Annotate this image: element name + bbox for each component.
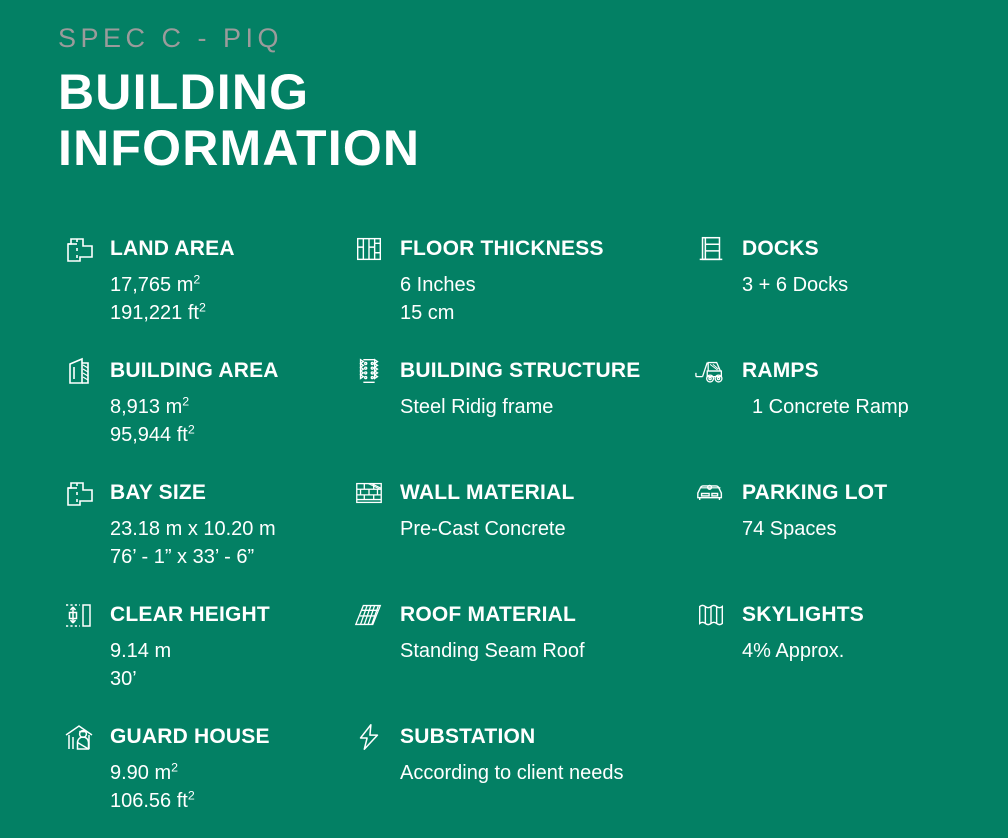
spec-value-metric: 8,913 m2 [110,393,330,421]
spec-item-header: PARKING LOT [690,472,1008,514]
page-title: BUILDING INFORMATION [58,64,1008,176]
spec-item-header: BUILDING STRUCTURE [348,350,680,392]
spec-item-header: BUILDING AREA [58,350,330,392]
spec-item-docks: DOCKS 3 + 6 Docks [690,228,1008,350]
spec-item-label: PARKING LOT [742,481,887,505]
brick-wall-icon [348,472,390,514]
spec-item-label: SKYLIGHTS [742,603,864,627]
spec-item-ramps: RAMPS 1 Concrete Ramp [690,350,1008,472]
spec-value: 1 Concrete Ramp [752,393,1008,421]
spec-value-metric: 9.14 m [110,637,330,665]
spec-item-values: Standing Seam Roof [348,637,680,665]
spec-item-header: DOCKS [690,228,1008,270]
spec-item-label: BUILDING STRUCTURE [400,359,640,383]
spec-item-land-area: LAND AREA 17,765 m2 191,221 ft2 [58,228,330,350]
page-title-line-2: INFORMATION [58,120,1008,176]
spec-item-label: WALL MATERIAL [400,481,574,505]
spec-item-header: SKYLIGHTS [690,594,1008,636]
floor-slab-icon [348,228,390,270]
spec-item-building-structure: BUILDING STRUCTURE Steel Ridig frame [348,350,680,472]
spec-item-values: 8,913 m2 95,944 ft2 [58,393,330,450]
spec-item-values: 6 Inches 15 cm [348,271,680,328]
spec-item-label: CLEAR HEIGHT [110,603,270,627]
spec-item-values: 4% Approx. [690,637,1008,665]
site-plan-icon [58,472,100,514]
spec-item-values: 3 + 6 Docks [690,271,1008,299]
column-middle: FLOOR THICKNESS 6 Inches 15 cm [330,228,680,838]
spec-item-values: 9.90 m2 106.56 ft2 [58,759,330,816]
spec-item-label: FLOOR THICKNESS [400,237,604,261]
spec-value: According to client needs [400,759,680,787]
spec-value: Pre-Cast Concrete [400,515,680,543]
site-plan-icon [58,228,100,270]
spec-item-clear-height: CLEAR HEIGHT 9.14 m 30’ [58,594,330,716]
spec-item-header: WALL MATERIAL [348,472,680,514]
spec-item-values: 1 Concrete Ramp [690,393,1008,421]
spec-value: 4% Approx. [742,637,1008,665]
spec-value-metric: 23.18 m x 10.20 m [110,515,330,543]
spec-item-label: GUARD HOUSE [110,725,270,749]
spec-item-label: SUBSTATION [400,725,535,749]
building-tower-icon [58,350,100,392]
spec-item-header: FLOOR THICKNESS [348,228,680,270]
spec-item-label: BUILDING AREA [110,359,279,383]
spec-item-values: 74 Spaces [690,515,1008,543]
spec-item-wall-material: WALL MATERIAL Pre-Cast Concrete [348,472,680,594]
lightning-bolt-icon [348,716,390,758]
spec-item-label: BAY SIZE [110,481,206,505]
spec-item-label: LAND AREA [110,237,235,261]
spec-item-header: SUBSTATION [348,716,680,758]
spec-value-imperial: 191,221 ft2 [110,299,330,327]
spec-value-imperial: 30’ [110,665,330,693]
spec-item-label: ROOF MATERIAL [400,603,576,627]
spec-value-imperial: 106.56 ft2 [110,787,330,815]
spec-item-label: DOCKS [742,237,819,261]
clear-height-icon [58,594,100,636]
guard-house-icon [58,716,100,758]
spec-value: 74 Spaces [742,515,1008,543]
spec-item-guard-house: GUARD HOUSE 9.90 m2 106.56 ft2 [58,716,330,838]
car-icon [690,472,732,514]
spec-item-values: 17,765 m2 191,221 ft2 [58,271,330,328]
spec-value-metric: 9.90 m2 [110,759,330,787]
spec-grid: LAND AREA 17,765 m2 191,221 ft2 BUILDING… [0,228,1008,838]
spec-item-parking-lot: PARKING LOT 74 Spaces [690,472,1008,594]
spec-item-values: Pre-Cast Concrete [348,515,680,543]
spec-eyebrow: SPEC C - PIQ [58,22,1008,54]
spec-item-bay-size: BAY SIZE 23.18 m x 10.20 m 76’ - 1” x 33… [58,472,330,594]
spec-value-metric: 15 cm [400,299,680,327]
column-right: DOCKS 3 + 6 Docks [680,228,1008,838]
steel-structure-icon [348,350,390,392]
spec-item-building-area: BUILDING AREA 8,913 m2 95,944 ft2 [58,350,330,472]
spec-item-values: Steel Ridig frame [348,393,680,421]
spec-item-roof-material: ROOF MATERIAL Standing Seam Roof [348,594,680,716]
spec-item-header: LAND AREA [58,228,330,270]
spec-value-imperial: 76’ - 1” x 33’ - 6” [110,543,330,571]
page-header: SPEC C - PIQ BUILDING INFORMATION [0,0,1008,176]
spec-value: 3 + 6 Docks [742,271,1008,299]
spec-item-values: 23.18 m x 10.20 m 76’ - 1” x 33’ - 6” [58,515,330,572]
spec-item-substation: SUBSTATION According to client needs [348,716,680,838]
spec-item-values: According to client needs [348,759,680,787]
spec-item-header: CLEAR HEIGHT [58,594,330,636]
spec-value: Steel Ridig frame [400,393,680,421]
spec-item-floor-thickness: FLOOR THICKNESS 6 Inches 15 cm [348,228,680,350]
spec-item-header: ROOF MATERIAL [348,594,680,636]
page-title-line-1: BUILDING [58,64,1008,120]
spec-item-label: RAMPS [742,359,819,383]
roof-shingle-icon [348,594,390,636]
spec-value: Standing Seam Roof [400,637,680,665]
spec-value-imperial: 6 Inches [400,271,680,299]
column-left: LAND AREA 17,765 m2 191,221 ft2 BUILDING… [0,228,330,838]
spec-item-skylights: SKYLIGHTS 4% Approx. [690,594,1008,716]
spec-item-values: 9.14 m 30’ [58,637,330,694]
spec-item-header: RAMPS [690,350,1008,392]
dock-door-icon [690,228,732,270]
spec-item-header: GUARD HOUSE [58,716,330,758]
spec-value-imperial: 95,944 ft2 [110,421,330,449]
skylight-panel-icon [690,594,732,636]
spec-item-header: BAY SIZE [58,472,330,514]
spec-value-metric: 17,765 m2 [110,271,330,299]
forklift-icon [690,350,732,392]
